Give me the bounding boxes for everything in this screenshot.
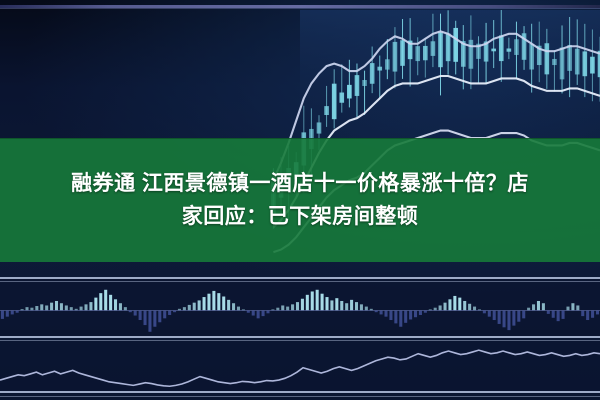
candle-body [317,123,321,133]
histogram-bar-negative [252,311,255,316]
candle-body [332,84,336,119]
candle-body [507,49,511,52]
histogram-bar-positive [114,299,117,310]
histogram-bar-negative [380,311,383,315]
headline-line-2: 家回应：已下架房间整顿 [182,200,419,233]
candle-body [439,33,443,67]
histogram-bar-negative [503,311,506,328]
divider-equity-bottom [0,391,600,393]
histogram-bar-positive [237,307,240,311]
histogram-bar-positive [463,301,466,311]
histogram-bar-positive [55,301,58,311]
histogram-bar-positive [50,303,53,311]
histogram-bar-positive [104,290,107,311]
histogram-bar-negative [552,311,555,318]
histogram-bar-negative [384,311,387,317]
histogram-bar-positive [89,302,92,310]
histogram-bar-negative [399,311,402,327]
histogram-bar-positive [40,304,43,310]
histogram-bar-negative [522,311,525,319]
candle-body [347,85,351,98]
histogram-bar-positive [330,300,333,310]
histogram-bar-negative [591,311,594,318]
histogram-bar-positive [35,306,38,310]
candle-body [469,40,473,68]
histogram-bar-positive [65,305,68,310]
histogram-bar-negative [419,311,422,315]
histogram-bar-negative [257,311,260,319]
histogram-bar-negative [586,311,589,321]
histogram-bar-positive [473,307,476,311]
histogram-bar-negative [394,311,397,324]
histogram-bar-negative [144,311,147,326]
histogram-bar-negative [163,311,166,319]
histogram-bar-negative [562,311,565,319]
histogram-bar-negative [1,311,4,319]
headline-line-1: 融券通 江西景德镇一酒店十一价格暴涨十倍？店 [71,167,529,200]
candle-body [575,49,579,74]
candle-body [431,42,435,56]
histogram-bar-positive [325,297,328,310]
histogram-bar-positive [80,307,83,311]
histogram-bar-negative [262,311,265,317]
histogram-bar-positive [335,298,338,310]
histogram-bar-negative [148,311,151,332]
histogram-bar-negative [11,311,14,315]
histogram-bar-positive [193,303,196,311]
divider-bottom-hairline [0,396,600,397]
candle-body [583,52,587,76]
histogram-bar-positive [576,305,579,310]
candle-body [568,45,572,70]
histogram-bar-positive [340,301,343,311]
histogram-bar-positive [316,290,319,311]
histogram-bar-positive [109,295,112,311]
histogram-bar-positive [203,297,206,310]
histogram-bar-negative [547,311,550,314]
histogram-bar-positive [311,291,314,310]
candle-body [492,49,496,51]
candle-body [454,28,458,61]
histogram-bar-positive [222,297,225,311]
histogram-bar-positive [291,304,294,310]
histogram-bar-positive [94,298,97,311]
histogram-bar-positive [542,303,545,310]
candle-body [340,93,344,103]
histogram-bar-negative [517,311,520,322]
candle-body [416,47,420,61]
candle-body [552,59,556,64]
divider-equity-top-hairline [0,340,600,341]
histogram-bar-positive [227,300,230,311]
divider-histogram-top [0,277,600,279]
histogram-bar-positive [321,294,324,311]
histogram-bar-negative [6,311,9,317]
histogram-bar-positive [439,305,442,310]
candle-body [560,48,564,79]
histogram-bar-positive [355,302,358,310]
histogram-panel [0,279,600,336]
histogram-bar-negative [158,311,161,323]
histogram-bar-negative [488,311,491,317]
histogram-bar-negative [414,311,417,318]
histogram-bar-positive [296,302,299,310]
histogram-bar-positive [365,307,368,311]
candle-body [530,44,534,69]
equity-panel [0,340,600,392]
candle-body [393,42,397,71]
candle-body [401,41,405,66]
candle-body [363,80,367,85]
histogram-bar-positive [45,305,48,310]
histogram-bar-negative [389,311,392,321]
histogram-bar-negative [596,311,599,315]
histogram-bar-positive [448,299,451,310]
candle-body [515,40,519,55]
histogram-bar-positive [350,300,353,311]
histogram-bar-positive [25,307,28,310]
divider-histogram-top-hairline [0,281,600,282]
histogram-bar-positive [188,305,191,311]
histogram-bar-positive [532,304,535,310]
candle-body [385,60,389,70]
histogram-bar-positive [217,293,220,310]
candle-body [545,44,549,74]
histogram-bar-positive [183,307,186,310]
histogram-bar-positive [207,294,210,311]
histogram-bar-negative [498,311,501,324]
histogram-bar-negative [581,311,584,317]
histogram-bar-negative [512,311,515,326]
histogram-bar-negative [168,311,171,315]
candle-body [355,75,359,95]
histogram-bar-positive [444,303,447,311]
histogram-bar-positive [212,291,215,311]
histogram-bar-positive [301,299,304,311]
histogram-bar-negative [153,311,156,327]
histogram-bar-positive [232,303,235,310]
histogram-bar-positive [286,307,289,311]
histogram-bar-positive [99,293,102,310]
candle-body [590,57,594,73]
divider-histogram-bottom [0,336,600,338]
histogram-bar-positive [198,300,201,310]
histogram-bar-negative [134,311,137,316]
chart-screenshot: 融券通 江西景德镇一酒店十一价格暴涨十倍？店 家回应：已下架房间整顿 [0,0,600,400]
histogram-bar-positive [70,307,73,310]
histogram-bar-negative [493,311,496,321]
histogram-bar-negative [557,311,560,322]
histogram-bar-positive [537,301,540,311]
histogram-bar-positive [360,304,363,310]
candle-body [325,106,329,114]
histogram-bar-positive [566,307,569,311]
histogram-bar-negative [409,311,412,320]
histogram-bar-positive [306,295,309,311]
headline-overlay: 融券通 江西景德镇一酒店十一价格暴涨十倍？店 家回应：已下架房间整顿 [0,138,600,262]
candle-body [499,36,503,61]
histogram-bar-positive [124,307,127,310]
histogram-bar-positive [84,304,87,310]
histogram-bar-positive [60,303,63,310]
histogram-bar-negative [139,311,142,321]
histogram-bar-positive [345,303,348,310]
histogram-bar-positive [119,303,122,310]
candle-body [423,46,427,60]
histogram-bar-positive [458,298,461,311]
candle-body [378,67,382,70]
candle-body [446,34,450,61]
histogram-bar-negative [507,311,510,331]
histogram-bar-positive [468,304,471,311]
candle-body [370,63,374,83]
histogram-bar-positive [281,305,284,310]
histogram-bar-positive [453,296,456,311]
histogram-bar-negative [404,311,407,323]
histogram-bar-positive [571,303,574,310]
